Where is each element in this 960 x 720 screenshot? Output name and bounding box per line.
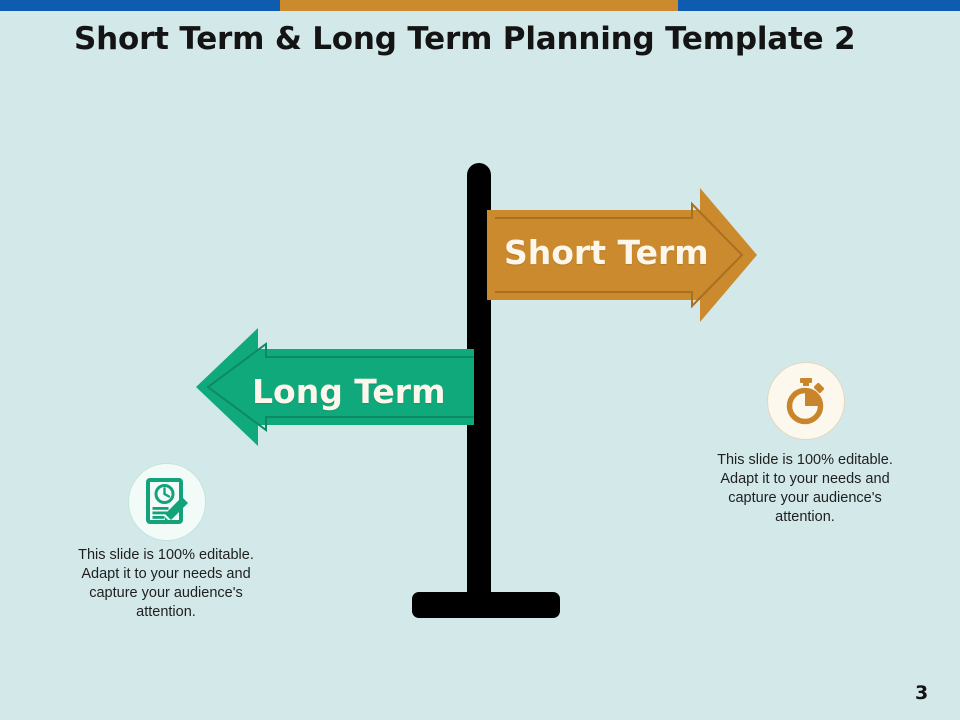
document-clock-pencil-icon: [142, 477, 192, 527]
top-accent-bar-left: [0, 0, 280, 11]
top-accent-bar-right: [678, 0, 960, 11]
sign-label-long-term: Long Term: [252, 372, 445, 411]
top-accent-bar-middle: [280, 0, 678, 11]
signpost-base: [412, 592, 560, 618]
callout-text-left: This slide is 100% editable. Adapt it to…: [66, 546, 266, 622]
sign-label-short-term: Short Term: [504, 233, 709, 272]
callout-text-right: This slide is 100% editable. Adapt it to…: [705, 451, 905, 527]
stopwatch-icon-badge: [767, 362, 845, 440]
page-number: 3: [915, 682, 928, 704]
stopwatch-icon: [781, 376, 831, 426]
slide-canvas: Short Term & Long Term Planning Template…: [0, 0, 960, 720]
page-title: Short Term & Long Term Planning Template…: [74, 21, 855, 57]
document-clock-pencil-icon-badge: [128, 463, 206, 541]
